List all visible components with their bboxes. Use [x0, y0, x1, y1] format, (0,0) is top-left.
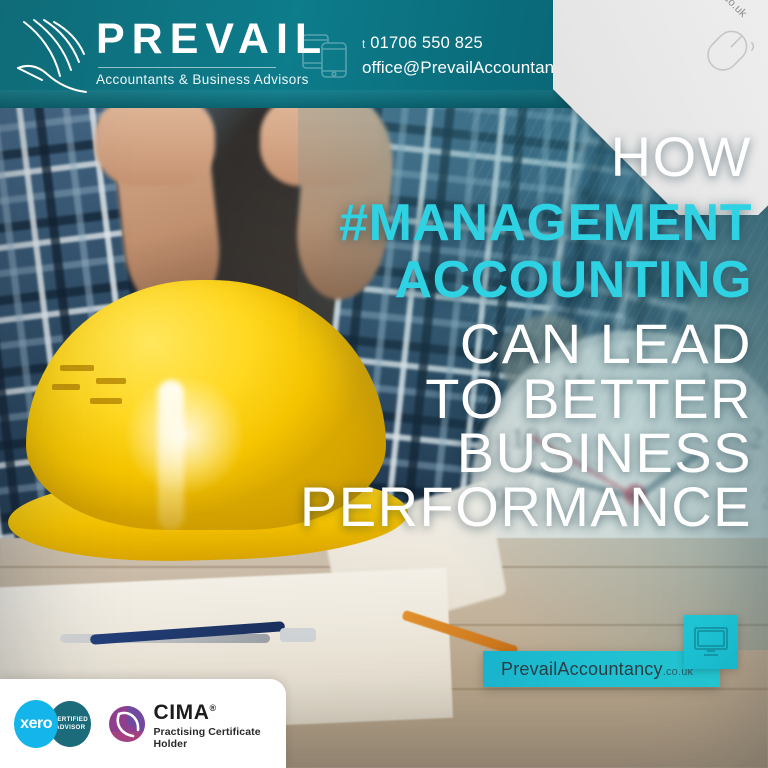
headline-block: HOW #MANAGEMENT ACCOUNTING CAN LEAD TO B… [282, 130, 752, 534]
monitor-badge[interactable] [684, 615, 738, 669]
tablet-phone-icon [300, 28, 352, 80]
monitor-icon [694, 627, 728, 657]
website-url-label: PrevailAccountancy.co.uk [483, 659, 693, 680]
email-line[interactable]: office@PrevailAccountancy.co.uk [362, 56, 603, 82]
headline-line-3: ACCOUNTING [282, 255, 752, 305]
brand-tagline: Accountants & Business Advisors [96, 72, 328, 87]
contact-details: t 01706 550 825 office@PrevailAccountanc… [362, 32, 603, 82]
cima-logo-icon [107, 704, 147, 744]
prevail-bird-logo-icon [14, 14, 92, 98]
headline-line-4: CAN LEAD [282, 317, 752, 371]
phone-prefix: t [362, 39, 365, 51]
headline-line-2: #MANAGEMENT [282, 198, 752, 248]
cima-subtitle: Practising Certificate Holder [153, 726, 286, 750]
email-tld: .co.uk [571, 64, 602, 76]
headline-line-6: BUSINESS [282, 426, 752, 480]
website-url-main: PrevailAccountancy [501, 659, 663, 679]
headline-line-1: HOW [282, 130, 752, 184]
certifications-panel: xero CERTIFIED ADVISOR CIMA® Practising … [0, 679, 286, 768]
brand-divider [98, 67, 276, 68]
xero-logo: xero [14, 700, 58, 748]
cima-text-block: CIMA® Practising Certificate Holder [153, 697, 286, 750]
advisor-line-2: ADVISOR [55, 724, 85, 731]
email-local: office@PrevailAccountancy [362, 58, 571, 77]
phone-line[interactable]: t 01706 550 825 [362, 32, 603, 56]
headline-line-5: TO BETTER [282, 372, 752, 426]
poster-canvas: 12 1 2 3 4 5 6 7 8 9 10 11 [0, 0, 768, 768]
brand-name: PREVAIL [96, 16, 328, 62]
cima-title: CIMA® [153, 697, 286, 724]
brand-wordmark: PREVAIL Accountants & Business Advisors [96, 16, 328, 87]
brand-header: PREVAIL Accountants & Business Advisors … [0, 0, 768, 108]
headline-line-7: PERFORMANCE [282, 480, 752, 534]
phone-number: 01706 550 825 [370, 34, 483, 52]
cima-trademark: ® [210, 703, 217, 713]
